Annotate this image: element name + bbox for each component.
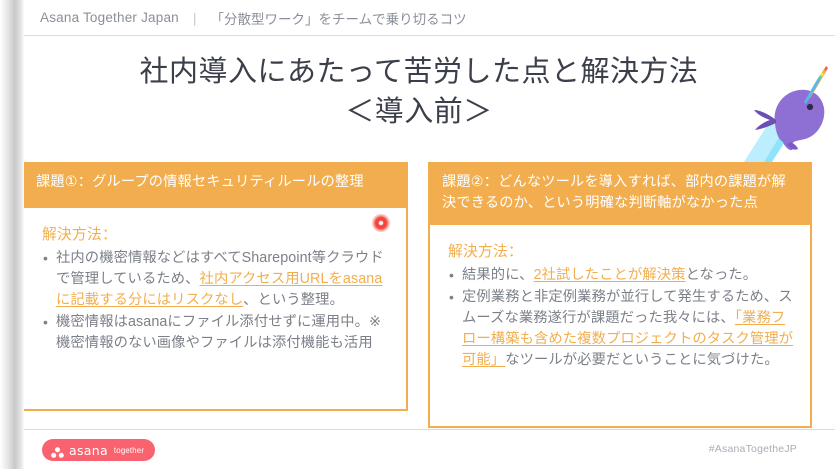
footer-bar: asana together #AsanaTogetheJP <box>0 429 835 469</box>
asana-together-logo: asana together <box>42 439 155 461</box>
page-title: 社内導入にあたって苦労した点と解決方法 ＜導入前＞ <box>24 52 814 132</box>
page-title-line1: 社内導入にあたって苦労した点と解決方法 <box>24 52 814 92</box>
issue-card-2-header: 課題②：どんなツールを導入すれば、部内の課題が解決できるのか、という明確な判断軸… <box>428 162 812 225</box>
page-title-line2: ＜導入前＞ <box>24 92 814 132</box>
issue-card-1: 課題①：グループの情報セキュリティルールの整理 解決方法： 社内の機密情報などは… <box>22 162 408 411</box>
footer-hashtag: #AsanaTogetheJP <box>709 443 797 455</box>
issue-card-2-solution-label: 解決方法： <box>448 241 798 263</box>
red-marker-dot-icon <box>372 214 390 232</box>
issue-card-1-solution-label: 解決方法： <box>42 224 394 246</box>
list-item: 結果的に、2社試したことが解決策となった。 <box>448 265 798 286</box>
asana-logo-wordmark: asana <box>69 443 108 458</box>
issue-card-1-header: 課題①：グループの情報セキュリティルールの整理 <box>22 162 408 208</box>
issue-card-2-bullet-list: 結果的に、2社試したことが解決策となった。 定例業務と非定例業務が並行して発生す… <box>448 265 798 371</box>
slide-canvas: Asana Together Japan | 「分散型ワーク」をチームで乗り切る… <box>0 0 835 469</box>
bullet-segment-highlight: 2社試したことが解決策 <box>534 267 686 283</box>
list-item: 社内の機密情報などはすべてSharepoint等クラウドで管理しているため、社内… <box>42 248 394 311</box>
bullet-segment: なツールが必要だということに気づけた。 <box>505 352 779 368</box>
issue-card-1-bullet-list: 社内の機密情報などはすべてSharepoint等クラウドで管理しているため、社内… <box>42 248 394 354</box>
asana-three-dots-logo-icon <box>51 445 64 456</box>
asana-logo-subword: together <box>114 446 144 455</box>
bullet-segment: 、という整理。 <box>243 292 344 308</box>
list-item: 機密情報はasanaにファイル添付せずに運用中。※機密情報のない画像やファイルは… <box>42 312 394 354</box>
bullet-segment: となった。 <box>686 267 758 283</box>
top-bar: Asana Together Japan | 「分散型ワーク」をチームで乗り切る… <box>0 0 835 36</box>
topbar-brand: Asana Together Japan <box>40 10 179 25</box>
topbar-separator: | <box>193 10 197 26</box>
bullet-segment: 機密情報はasanaにファイル添付せずに運用中。※機密情報のない画像やファイルは… <box>56 314 381 351</box>
issue-card-1-body: 解決方法： 社内の機密情報などはすべてSharepoint等クラウドで管理してい… <box>22 208 408 411</box>
page-edge-shadow <box>0 0 24 469</box>
issue-card-2-body: 解決方法： 結果的に、2社試したことが解決策となった。 定例業務と非定例業務が並… <box>428 225 812 428</box>
list-item: 定例業務と非定例業務が並行して発生するため、スムーズな業務遂行が課題だった我々に… <box>448 287 798 371</box>
issue-card-2: 課題②：どんなツールを導入すれば、部内の課題が解決できるのか、という明確な判断軸… <box>428 162 812 428</box>
topbar-subtitle: 「分散型ワーク」をチームで乗り切るコツ <box>211 8 467 28</box>
bullet-segment: 結果的に、 <box>462 267 534 283</box>
